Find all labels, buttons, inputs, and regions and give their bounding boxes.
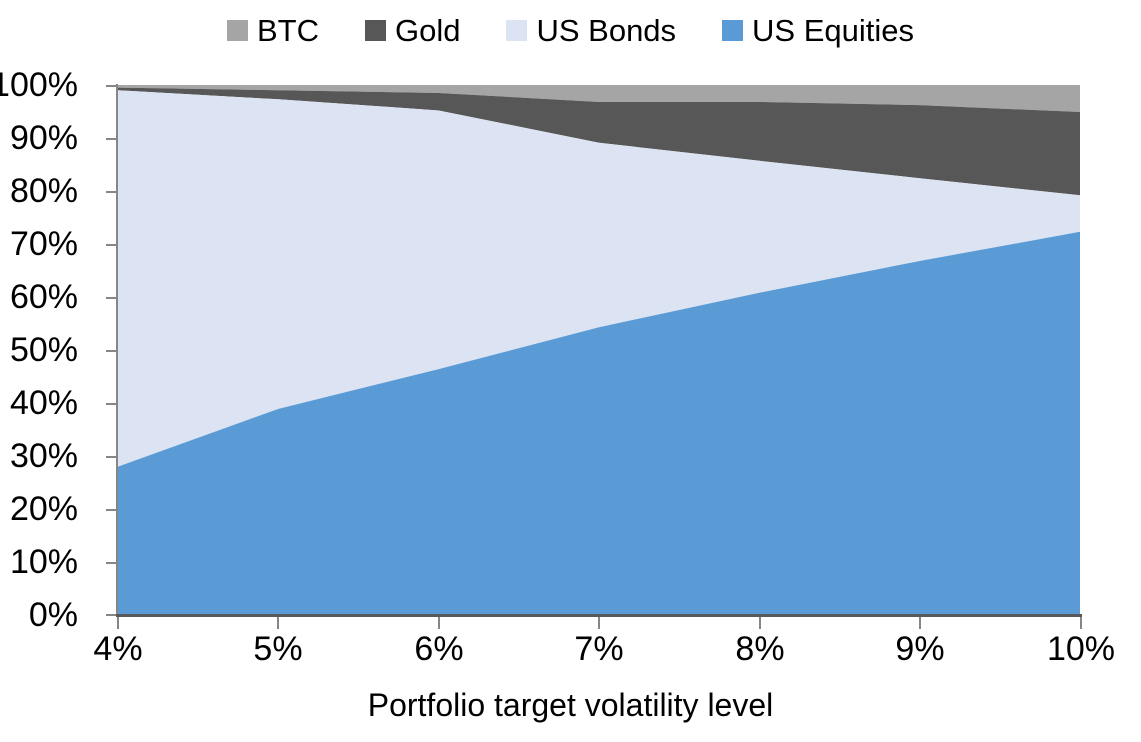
y-axis-label-30: 30% [0, 439, 78, 473]
x-axis-label-5: 5% [198, 632, 358, 666]
x-axis-label-4: 4% [38, 632, 198, 666]
plot-area [118, 85, 1080, 615]
x-tick-4 [117, 617, 119, 629]
chart-legend: BTC Gold US Bonds US Equities [0, 8, 1141, 52]
legend-swatch-btc [227, 20, 248, 41]
x-tick-6 [438, 617, 440, 629]
legend-label-btc: BTC [257, 15, 319, 46]
y-axis-label-50: 50% [0, 333, 78, 367]
y-axis-label-70: 70% [0, 227, 78, 261]
x-tick-10 [1080, 617, 1082, 629]
x-axis-title: Portfolio target volatility level [0, 688, 1141, 722]
legend-item-us-equities[interactable]: US Equities [722, 15, 914, 46]
y-axis-label-100: 100% [0, 68, 78, 102]
legend-label-us-equities: US Equities [752, 15, 914, 46]
y-axis-label-20: 20% [0, 492, 78, 526]
x-tick-8 [759, 617, 761, 629]
y-axis-line [116, 84, 118, 617]
y-axis-label-40: 40% [0, 386, 78, 420]
y-axis-label-80: 80% [0, 174, 78, 208]
legend-item-gold[interactable]: Gold [365, 15, 460, 46]
x-axis-label-8: 8% [680, 632, 840, 666]
y-axis-label-60: 60% [0, 280, 78, 314]
legend-swatch-us-bonds [506, 20, 527, 41]
stacked-area-chart: BTC Gold US Bonds US Equities 100% 90% 8… [0, 0, 1141, 742]
x-tick-5 [277, 617, 279, 629]
area-chart-svg [118, 85, 1080, 615]
x-axis-label-9: 9% [840, 632, 1000, 666]
legend-swatch-gold [365, 20, 386, 41]
y-axis-label-0: 0% [0, 598, 78, 632]
legend-label-us-bonds: US Bonds [536, 15, 676, 46]
x-axis-label-6: 6% [359, 632, 519, 666]
x-tick-9 [919, 617, 921, 629]
legend-label-gold: Gold [395, 15, 460, 46]
legend-item-us-bonds[interactable]: US Bonds [506, 15, 676, 46]
x-tick-7 [598, 617, 600, 629]
y-axis-label-90: 90% [0, 121, 78, 155]
legend-swatch-us-equities [722, 20, 743, 41]
legend-item-btc[interactable]: BTC [227, 15, 319, 46]
x-axis-label-10: 10% [1001, 632, 1141, 666]
x-axis-label-7: 7% [519, 632, 679, 666]
y-axis-label-10: 10% [0, 545, 78, 579]
